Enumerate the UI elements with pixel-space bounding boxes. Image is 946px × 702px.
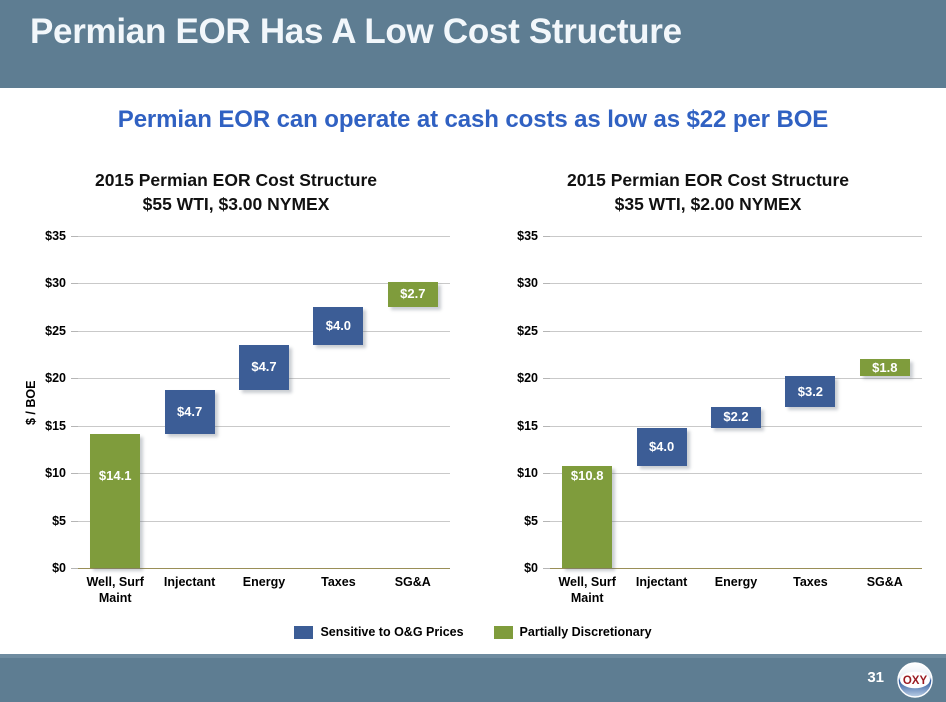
chart-left-y-tick-label: $10 — [16, 467, 66, 480]
chart-left-bar: $4.0 — [313, 307, 363, 345]
chart-left-gridline — [78, 331, 450, 332]
chart-right-tick-mark — [543, 568, 550, 569]
chart-right-bar-value-label: $2.2 — [711, 409, 761, 424]
chart-right-tick-mark — [543, 473, 550, 474]
chart-left-tick-mark — [71, 236, 78, 237]
chart-left-x-label-line: Injectant — [152, 574, 226, 590]
chart-right-tick-mark — [543, 426, 550, 427]
chart-right-x-category-label: Energy — [699, 574, 773, 590]
chart-left-y-tick-label: $20 — [16, 372, 66, 385]
chart-left-title-line2: $55 WTI, $3.00 NYMEX — [6, 192, 466, 216]
chart-right-y-tick-label: $35 — [488, 230, 538, 243]
chart-right-bar-value-label: $1.8 — [860, 360, 910, 375]
legend-swatch-blue-icon — [294, 626, 313, 639]
chart-left-x-category-label: SG&A — [376, 574, 450, 590]
chart-left-bar: $4.7 — [165, 390, 215, 435]
chart-left-title: 2015 Permian EOR Cost Structure $55 WTI,… — [6, 168, 466, 216]
chart-left-tick-mark — [71, 378, 78, 379]
page-title: Permian EOR Has A Low Cost Structure — [30, 10, 916, 54]
chart-right-title-line1: 2015 Permian EOR Cost Structure — [567, 170, 849, 190]
chart-right-tick-mark — [543, 378, 550, 379]
chart-right-y-tick-label: $25 — [488, 325, 538, 338]
chart-left-x-label-line: Well, Surf — [78, 574, 152, 590]
chart-left-gridline — [78, 568, 450, 569]
chart-right-plot: $0$5$10$15$20$25$30$35$10.8Well, SurfMai… — [550, 236, 922, 568]
chart-left-tick-mark — [71, 283, 78, 284]
chart-right-bar: $10.8 — [562, 466, 612, 568]
chart-left-bar-value-label: $4.7 — [165, 404, 215, 419]
chart-right-x-label-line: Well, Surf — [550, 574, 624, 590]
chart-right-title-line2: $35 WTI, $2.00 NYMEX — [478, 192, 938, 216]
chart-left-tick-mark — [71, 426, 78, 427]
chart-right-x-label-line: SG&A — [848, 574, 922, 590]
chart-right-y-tick-label: $5 — [488, 515, 538, 528]
chart-right-y-tick-label: $20 — [488, 372, 538, 385]
chart-right-y-tick-label: $0 — [488, 562, 538, 575]
chart-left-bar: $4.7 — [239, 345, 289, 390]
chart-right-tick-mark — [543, 331, 550, 332]
chart-right-gridline — [550, 331, 922, 332]
chart-right-x-category-label: Well, SurfMaint — [550, 574, 624, 606]
chart-right-y-tick-label: $10 — [488, 467, 538, 480]
subtitle: Permian EOR can operate at cash costs as… — [0, 106, 946, 134]
chart-left-y-tick-label: $35 — [16, 230, 66, 243]
svg-text:OXY: OXY — [903, 675, 928, 687]
legend: Sensitive to O&G Prices Partially Discre… — [0, 625, 946, 639]
chart-right-x-category-label: Taxes — [773, 574, 847, 590]
chart-right-bar: $1.8 — [860, 359, 910, 376]
chart-left-x-label-line: Taxes — [301, 574, 375, 590]
chart-left-y-tick-label: $15 — [16, 420, 66, 433]
chart-right-y-tick-label: $15 — [488, 420, 538, 433]
chart-left-bar-value-label: $4.7 — [239, 359, 289, 374]
chart-right-x-category-label: SG&A — [848, 574, 922, 590]
oxy-logo-icon: OXY — [892, 662, 938, 698]
chart-left: 2015 Permian EOR Cost Structure $55 WTI,… — [6, 160, 466, 620]
chart-right-bar: $4.0 — [637, 428, 687, 466]
chart-left-y-tick-label: $5 — [16, 515, 66, 528]
chart-left-y-tick-label: $25 — [16, 325, 66, 338]
chart-right-tick-mark — [543, 283, 550, 284]
chart-left-plot: $0$5$10$15$20$25$30$35$14.1Well, SurfMai… — [78, 236, 450, 568]
chart-right-bar-value-label: $4.0 — [637, 439, 687, 454]
chart-left-x-label-line: Energy — [227, 574, 301, 590]
legend-item-sensitive: Sensitive to O&G Prices — [294, 625, 463, 639]
chart-right-bar-value-label: $10.8 — [562, 468, 612, 483]
chart-right-gridline — [550, 378, 922, 379]
chart-right-bar: $3.2 — [785, 376, 835, 406]
chart-right-x-category-label: Injectant — [624, 574, 698, 590]
chart-left-bar-value-label: $2.7 — [388, 286, 438, 301]
legend-item-discretionary: Partially Discretionary — [494, 625, 652, 639]
chart-right: 2015 Permian EOR Cost Structure $35 WTI,… — [478, 160, 938, 620]
chart-left-x-category-label: Well, SurfMaint — [78, 574, 152, 606]
chart-left-tick-mark — [71, 521, 78, 522]
chart-left-x-category-label: Taxes — [301, 574, 375, 590]
slide: Permian EOR Has A Low Cost Structure Per… — [0, 0, 946, 702]
chart-left-y-axis-title: $ / BOE — [24, 381, 38, 425]
chart-right-tick-mark — [543, 236, 550, 237]
page-number: 31 — [867, 669, 884, 686]
chart-left-tick-mark — [71, 331, 78, 332]
chart-left-x-label-line: Maint — [78, 590, 152, 606]
chart-left-bar: $14.1 — [90, 434, 140, 568]
chart-left-title-line1: 2015 Permian EOR Cost Structure — [95, 170, 377, 190]
chart-left-bar-value-label: $4.0 — [313, 318, 363, 333]
legend-label-sensitive: Sensitive to O&G Prices — [320, 625, 463, 639]
chart-right-title: 2015 Permian EOR Cost Structure $35 WTI,… — [478, 168, 938, 216]
chart-left-y-tick-label: $0 — [16, 562, 66, 575]
chart-left-tick-mark — [71, 473, 78, 474]
chart-left-gridline — [78, 236, 450, 237]
chart-right-gridline — [550, 568, 922, 569]
chart-right-bar-value-label: $3.2 — [785, 384, 835, 399]
chart-left-bar-value-label: $14.1 — [90, 468, 140, 483]
chart-right-y-tick-label: $30 — [488, 277, 538, 290]
footer-band — [0, 658, 946, 702]
chart-right-x-label-line: Taxes — [773, 574, 847, 590]
chart-right-x-label-line: Maint — [550, 590, 624, 606]
chart-left-bar: $2.7 — [388, 282, 438, 308]
chart-right-tick-mark — [543, 521, 550, 522]
chart-left-tick-mark — [71, 568, 78, 569]
chart-right-bar: $2.2 — [711, 407, 761, 428]
chart-left-x-category-label: Injectant — [152, 574, 226, 590]
chart-right-gridline — [550, 283, 922, 284]
chart-right-gridline — [550, 236, 922, 237]
legend-label-discretionary: Partially Discretionary — [520, 625, 652, 639]
chart-right-x-label-line: Injectant — [624, 574, 698, 590]
chart-left-x-category-label: Energy — [227, 574, 301, 590]
chart-left-x-label-line: SG&A — [376, 574, 450, 590]
chart-left-y-tick-label: $30 — [16, 277, 66, 290]
chart-left-gridline — [78, 426, 450, 427]
legend-swatch-green-icon — [494, 626, 513, 639]
chart-right-x-label-line: Energy — [699, 574, 773, 590]
